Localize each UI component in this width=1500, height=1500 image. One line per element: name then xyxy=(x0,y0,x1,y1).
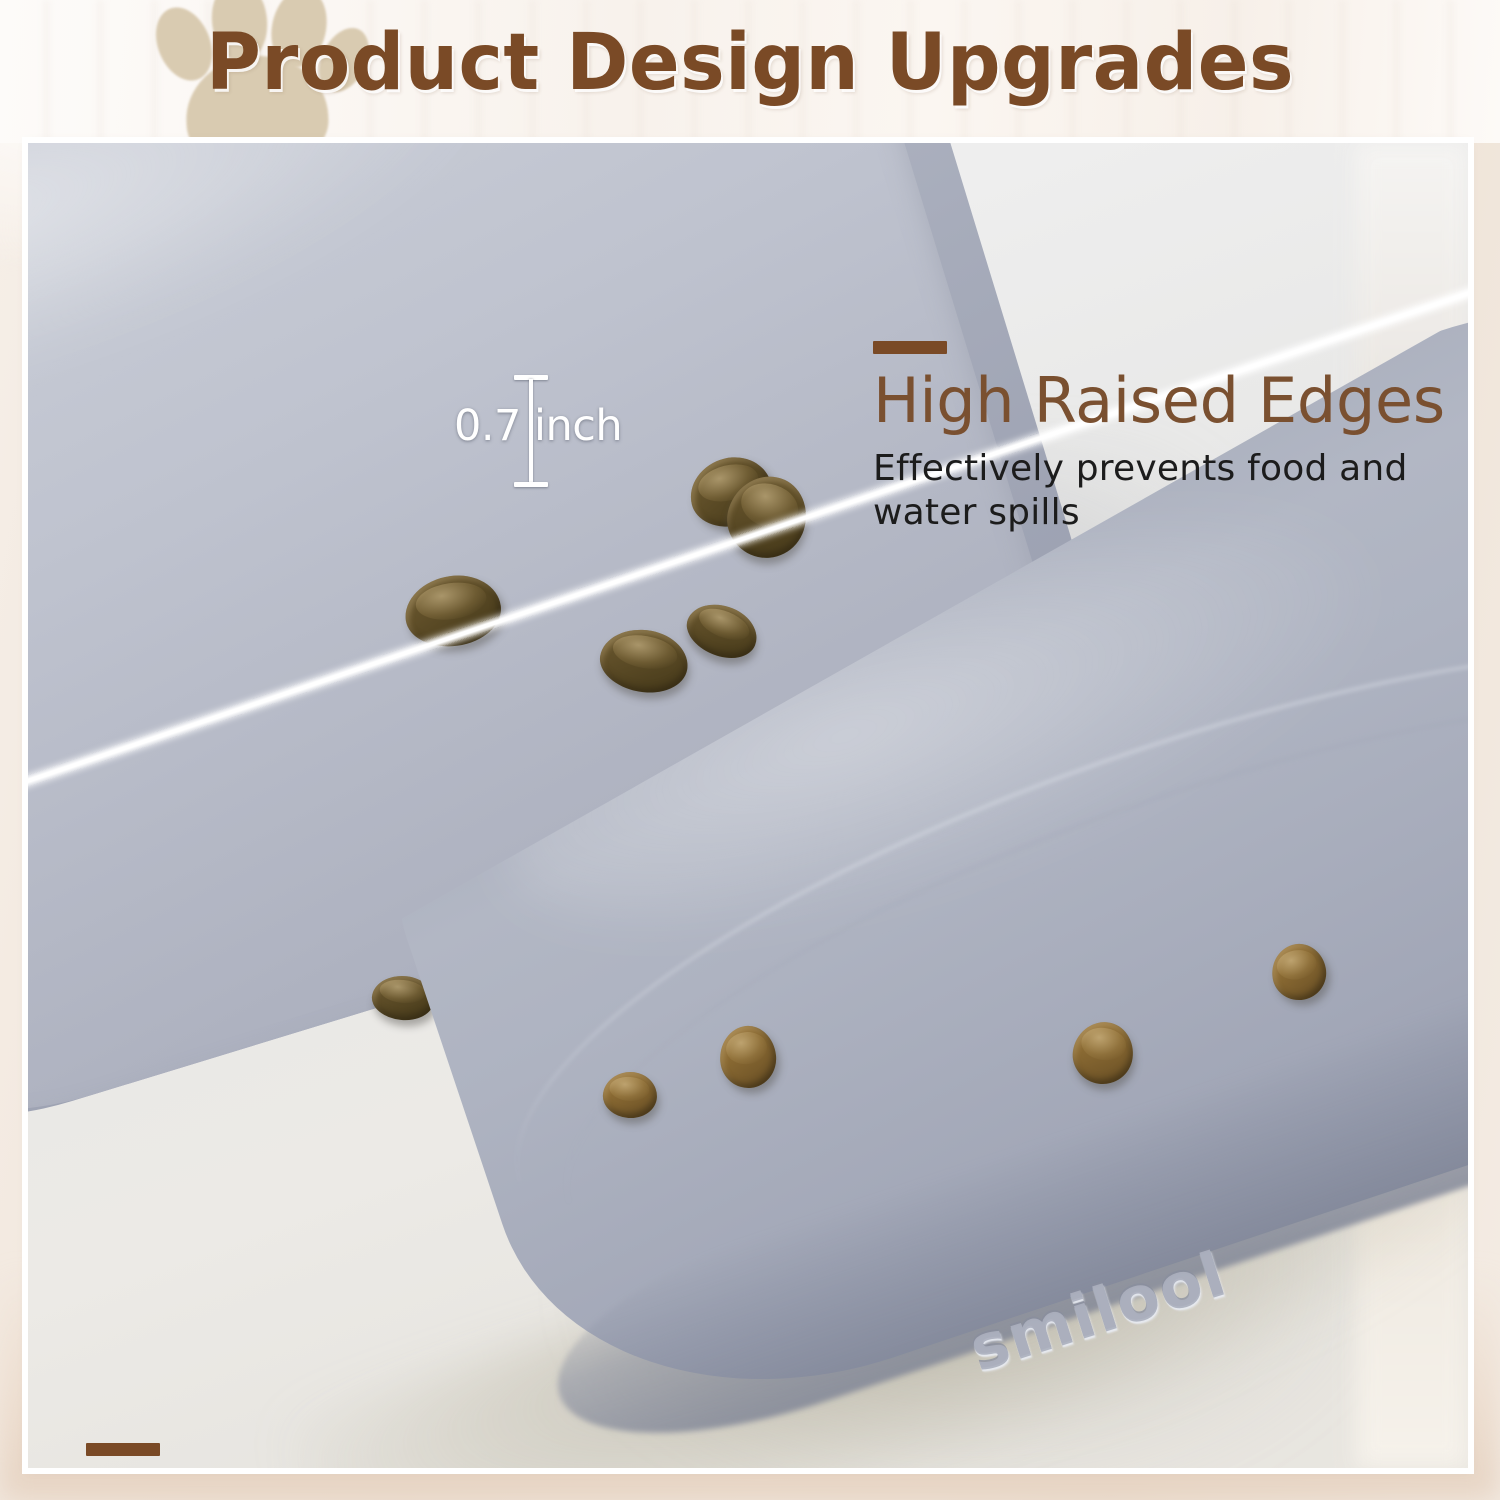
dimension-annotation: 0.7 inch xyxy=(452,375,622,487)
feature-subtitle-top: Effectively prevents food and water spil… xyxy=(873,447,1468,535)
product-photo-frame: smilool 0.7 inch High Raised Edges Effec… xyxy=(28,143,1468,1468)
dimension-tick-bottom xyxy=(514,482,548,487)
feature-rule-top xyxy=(873,341,947,354)
product-infographic: Product Design Upgrades xyxy=(0,0,1500,1500)
feature-rule-bottom xyxy=(86,1443,160,1456)
product-photo: smilool 0.7 inch High Raised Edges Effec… xyxy=(28,143,1468,1468)
dimension-label: 0.7 inch xyxy=(454,401,622,451)
page-title: Product Design Upgrades xyxy=(30,18,1470,108)
feature-high-raised-edges: High Raised Edges Effectively prevents f… xyxy=(873,341,1468,535)
feature-title-top: High Raised Edges xyxy=(873,368,1468,435)
feature-keeping-floor-clean: Keeping the floor clean Minimizes time s… xyxy=(86,1443,991,1468)
header-banner: Product Design Upgrades xyxy=(0,0,1500,143)
